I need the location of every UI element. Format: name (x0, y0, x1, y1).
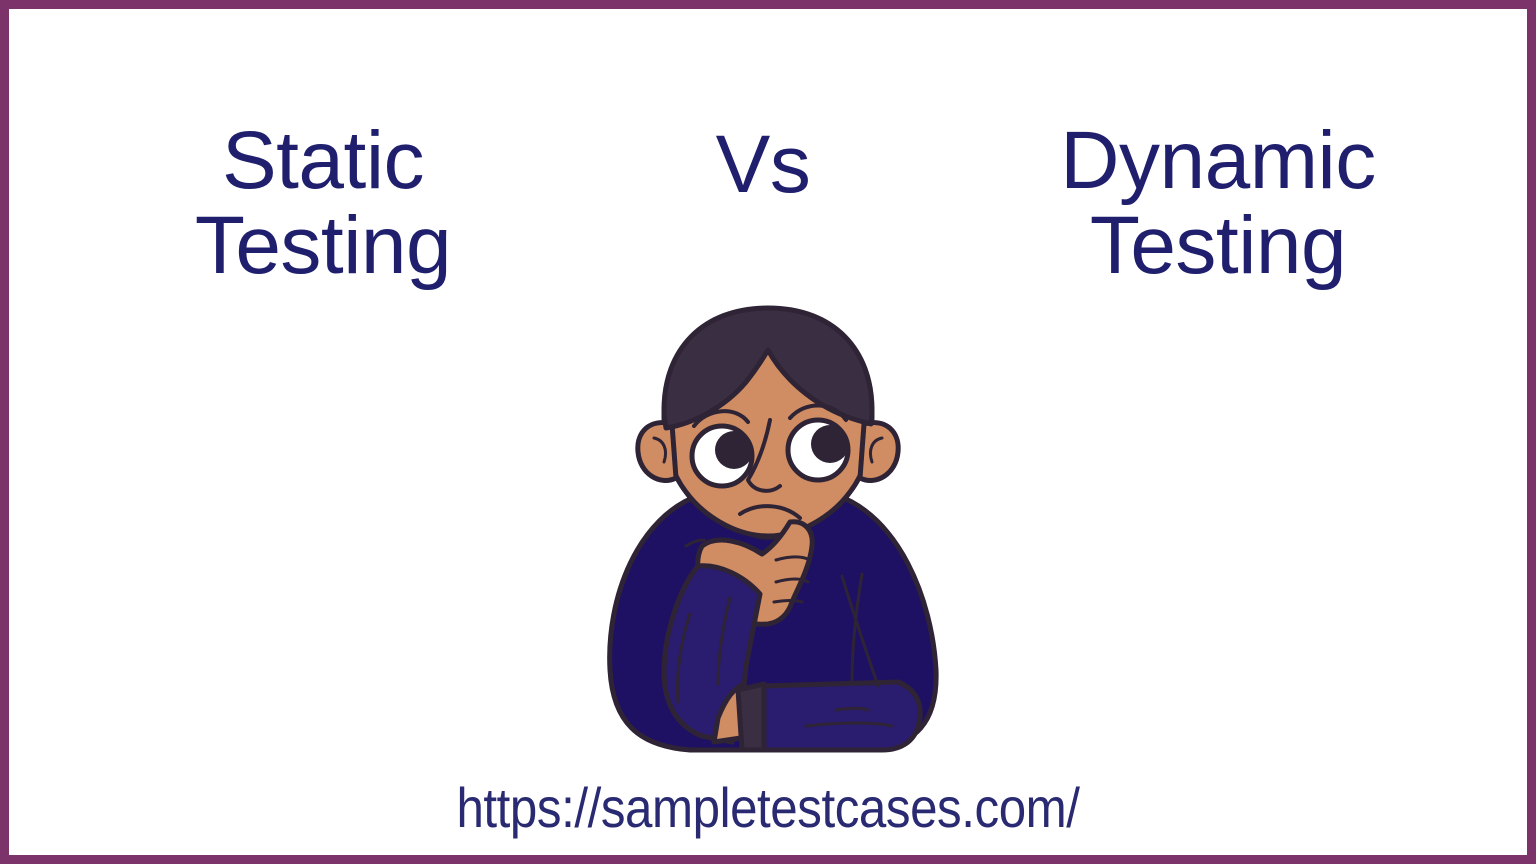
finger-line-3 (774, 601, 802, 603)
heading-vs: Vs (633, 122, 893, 207)
website-url[interactable]: https://sampletestcases.com/ (100, 775, 1436, 840)
thinking-person-illustration (568, 298, 968, 768)
ear-right (860, 423, 898, 481)
headline-row: Static Testing Vs Dynamic Testing (9, 118, 1527, 328)
ear-left (638, 423, 676, 481)
lower-arm-block (764, 682, 920, 750)
heading-dynamic-testing: Dynamic Testing (1003, 118, 1433, 289)
thinking-person-svg (568, 298, 968, 768)
pupil-left (715, 431, 753, 469)
arm-detail-1 (836, 709, 868, 711)
pupil-right (811, 425, 849, 463)
poster-canvas: Static Testing Vs Dynamic Testing (0, 0, 1536, 864)
heading-static-testing: Static Testing (123, 118, 523, 289)
